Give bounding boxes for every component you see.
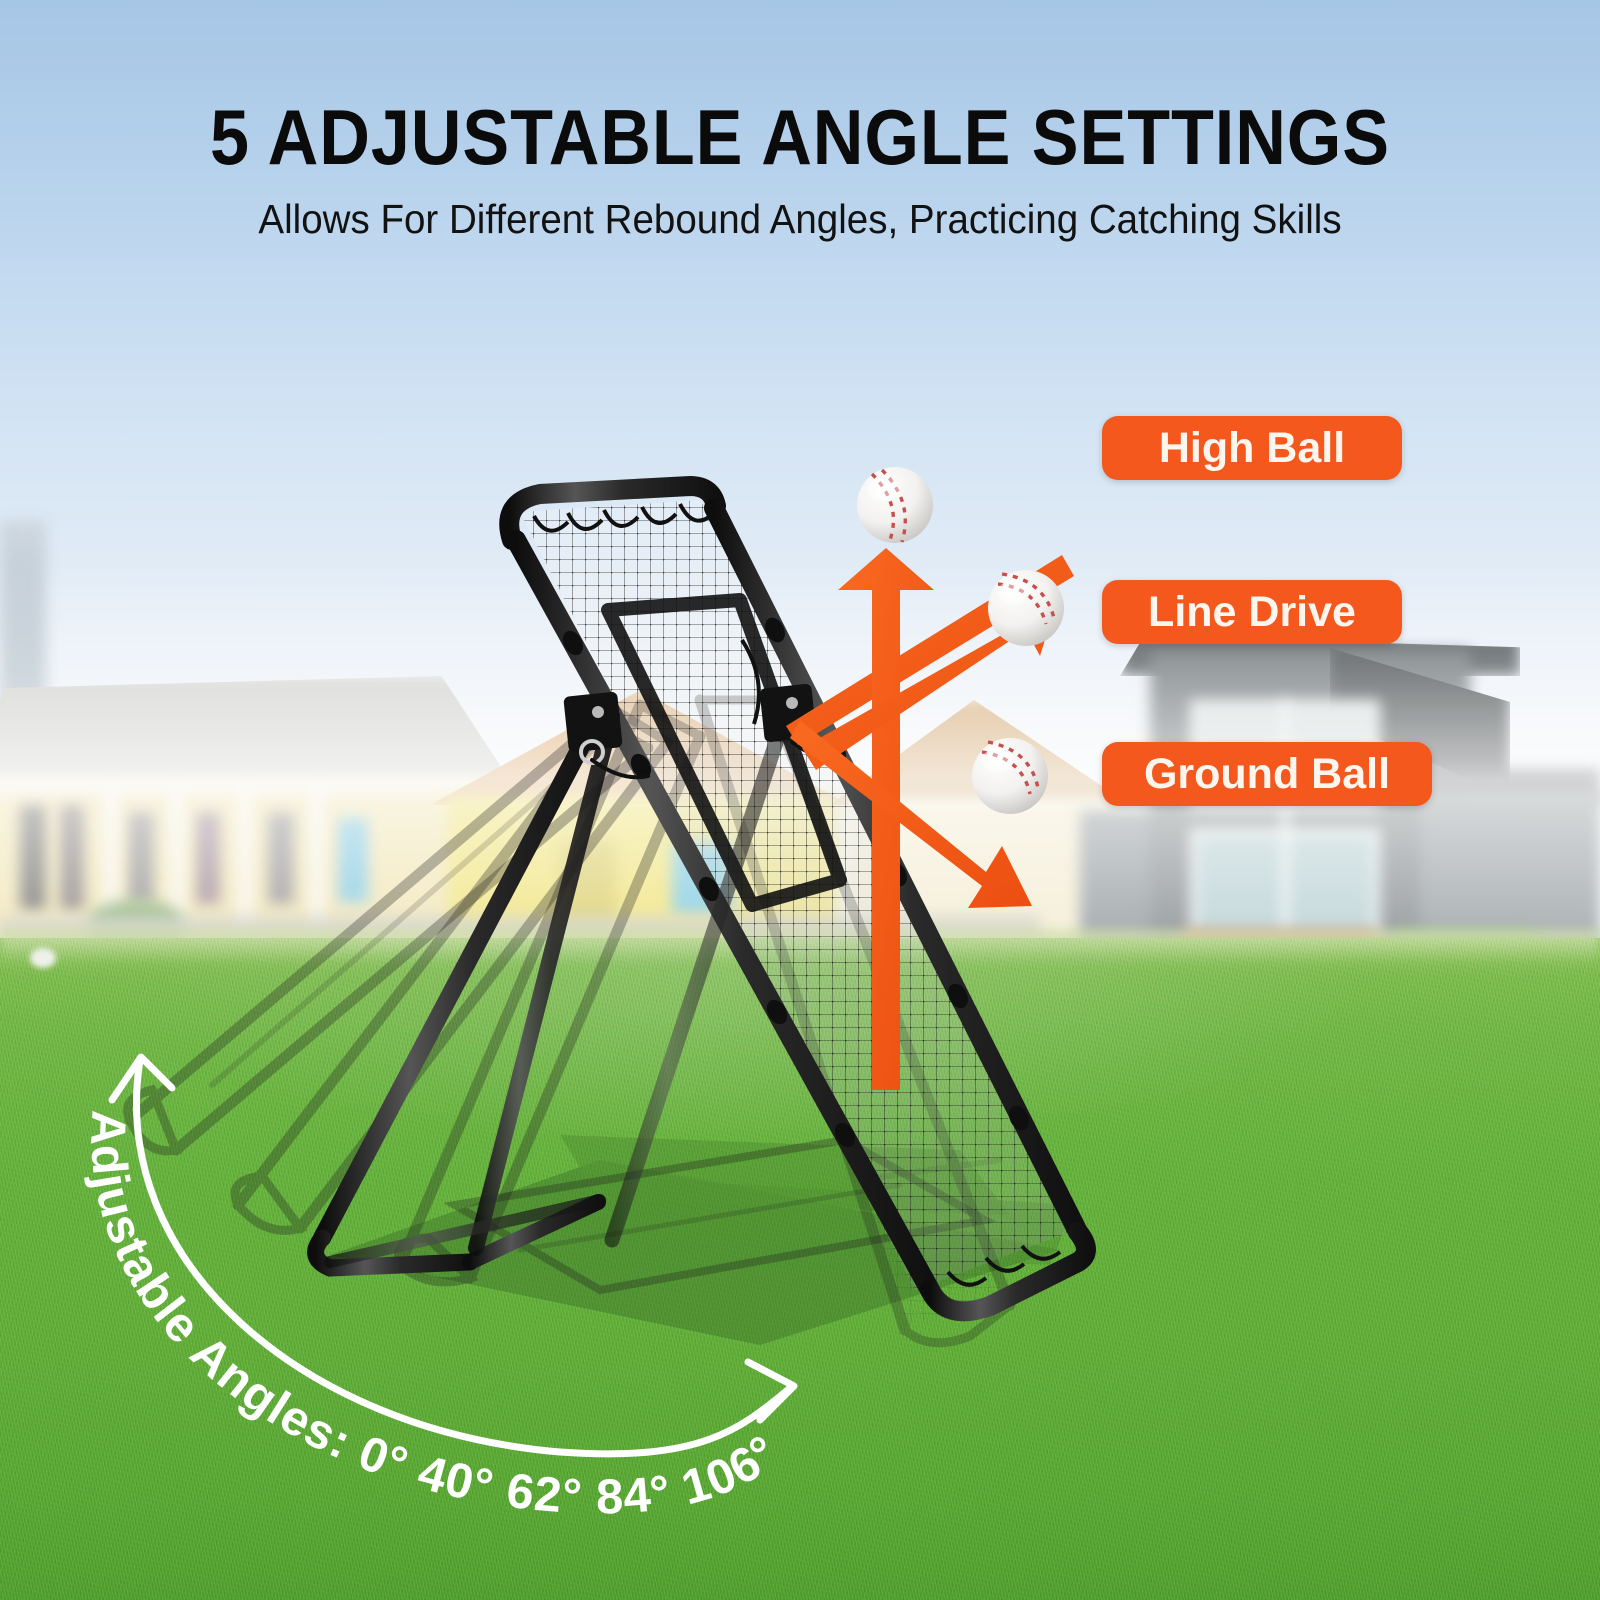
baseball-ground-ball	[972, 738, 1048, 814]
page-title: 5 ADJUSTABLE ANGLE SETTINGS	[80, 92, 1520, 183]
badge-line-drive[interactable]: Line Drive	[1102, 580, 1402, 644]
page-subtitle: Allows For Different Rebound Angles, Pra…	[48, 196, 1552, 243]
badge-high-ball[interactable]: High Ball	[1102, 416, 1402, 480]
product-feature-image: Adjustable Angles: 0° 40° 62° 84° 106° 5…	[0, 0, 1600, 1600]
baseball-high-ball	[857, 467, 933, 543]
arc-end-arrowhead	[748, 1362, 794, 1420]
baseball-line-drive	[988, 570, 1064, 646]
badge-ground-ball[interactable]: Ground Ball	[1102, 742, 1432, 806]
